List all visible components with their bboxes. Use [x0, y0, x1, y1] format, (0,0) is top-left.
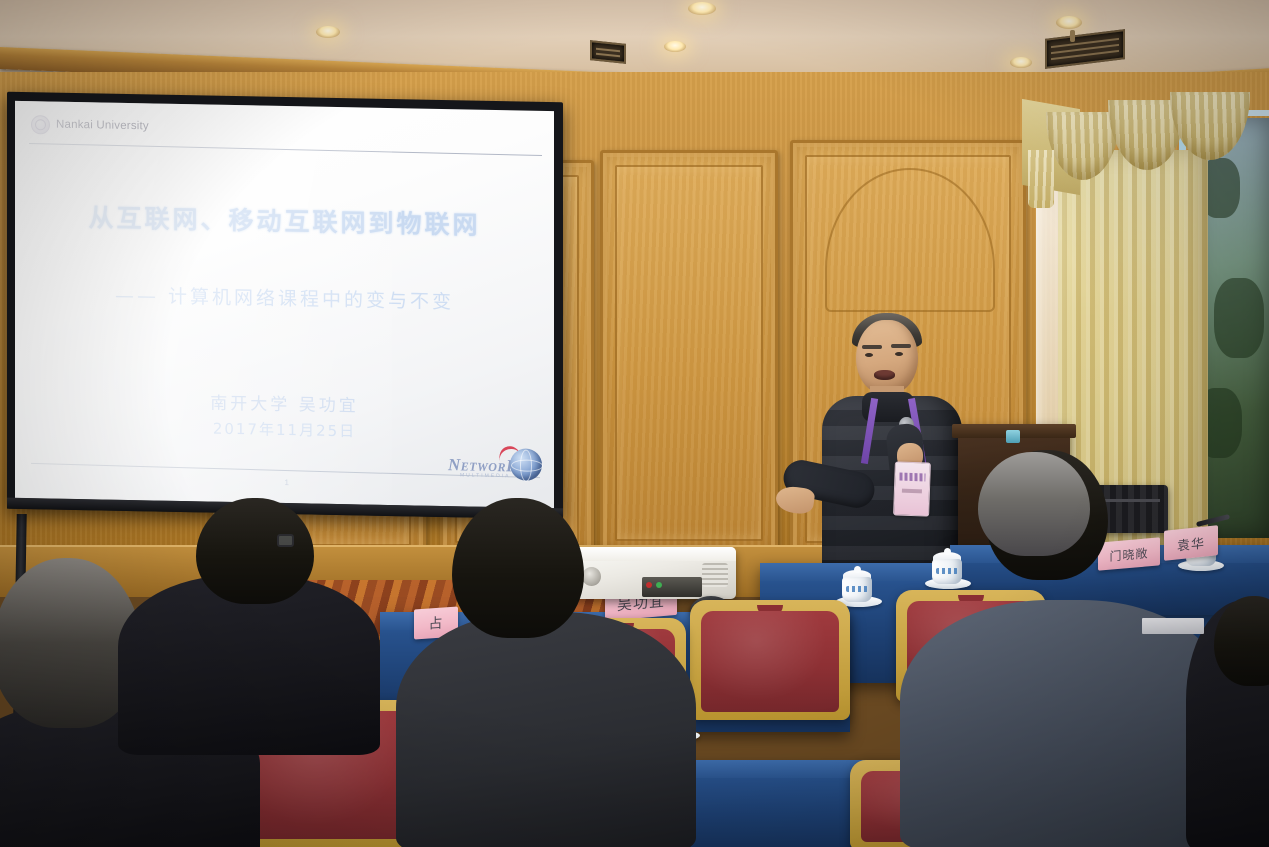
projector-lens [582, 567, 601, 586]
speaker-brow-left [862, 345, 882, 349]
wall-panel-1 [600, 150, 778, 556]
conference-lecture-photo: Nankai University 从互联网、移动互联网到物联网 —— 计算机网… [0, 0, 1269, 847]
slide-title: 从互联网、移动互联网到物联网 [15, 197, 554, 243]
name-card-right-1: 门晓敞 [1098, 537, 1160, 570]
projector [572, 547, 736, 599]
nankai-seal-icon [31, 115, 50, 134]
slide-surface: Nankai University 从互联网、移动互联网到物联网 —— 计算机网… [15, 101, 554, 508]
projector-ports [642, 577, 702, 597]
lidded-teacup [930, 548, 964, 584]
projector-vents [702, 563, 728, 587]
lidded-teacup [840, 566, 874, 602]
sprinkler-head [1070, 30, 1075, 42]
name-card-text: 袁华 [1177, 532, 1205, 554]
ceiling-light-4 [1056, 16, 1082, 29]
ceiling-light-1 [316, 26, 340, 38]
banquet-chair-2 [690, 600, 850, 720]
speaker-badge [893, 461, 931, 516]
ceiling-light-5 [1010, 57, 1032, 68]
ceiling-light-2 [688, 2, 716, 15]
projection-screen: Nankai University 从互联网、移动互联网到物联网 —— 计算机网… [7, 92, 563, 520]
audience-body-right [900, 600, 1230, 847]
slide-number: 1 [285, 478, 289, 487]
audience-head-podium [978, 452, 1090, 556]
globe-icon [510, 448, 542, 481]
speaker-eye-right [895, 352, 903, 356]
papers-on-table [1142, 618, 1204, 634]
slide-subtitle: —— 计算机网络课程中的变与不变 [15, 279, 554, 316]
network-logo: NETWORK MULTIMEDIA [448, 445, 544, 489]
network-logo-initial: N [448, 455, 461, 474]
speaker-head [856, 320, 918, 394]
curtain-jabot [1028, 150, 1054, 208]
slide-institution: Nankai University [56, 119, 149, 133]
speaker-brow-right [891, 344, 911, 348]
audience-head-center [452, 498, 584, 638]
speaker-mouth [874, 370, 895, 380]
ceiling-light-3 [664, 41, 686, 52]
name-card-text: 门晓敞 [1109, 544, 1148, 564]
speaker-eye-left [865, 353, 873, 357]
slide-header: Nankai University [31, 111, 540, 147]
audience-glasses [277, 534, 294, 547]
lectern-cup [1006, 430, 1020, 443]
audience-body-center [396, 612, 696, 847]
name-card-right-2: 袁华 [1164, 525, 1218, 561]
audience-head-left [196, 498, 314, 604]
ceiling-air-vent-left [590, 40, 626, 64]
network-logo-tagline: MULTIMEDIA [460, 472, 510, 479]
name-card-text: 占 [429, 612, 444, 633]
